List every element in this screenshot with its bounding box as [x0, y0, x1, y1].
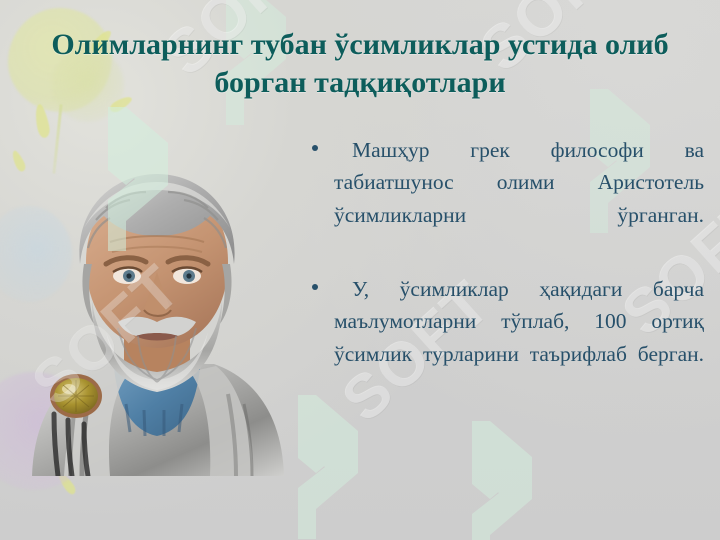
bullet-text-value: У, ўсимликлар ҳақидаги барча маълумотлар… [334, 277, 704, 366]
bullet-item: У, ўсимликлар ҳақидаги барча маълумотлар… [312, 273, 704, 402]
bullet-text-value: Машҳур грек философи ва табиатшунос олим… [334, 138, 704, 227]
bullet-item: Машҳур грек философи ва табиатшунос олим… [312, 134, 704, 263]
slide-body: Машҳур грек философи ва табиатшунос олим… [312, 134, 704, 412]
bullet-text: Машҳур грек философи ва табиатшунос олим… [334, 134, 704, 263]
aristotle-portrait-image [14, 168, 300, 476]
bullet-marker-icon [312, 134, 334, 151]
presentation-slide: SOFT SOFT SOFT SOFT SOFT Олимларнинг туб… [0, 0, 720, 540]
slide-title: Олимларнинг тубан ўсимликлар устида олиб… [40, 26, 680, 103]
bullet-text: У, ўсимликлар ҳақидаги барча маълумотлар… [334, 273, 704, 402]
bullet-marker-icon [312, 273, 334, 290]
